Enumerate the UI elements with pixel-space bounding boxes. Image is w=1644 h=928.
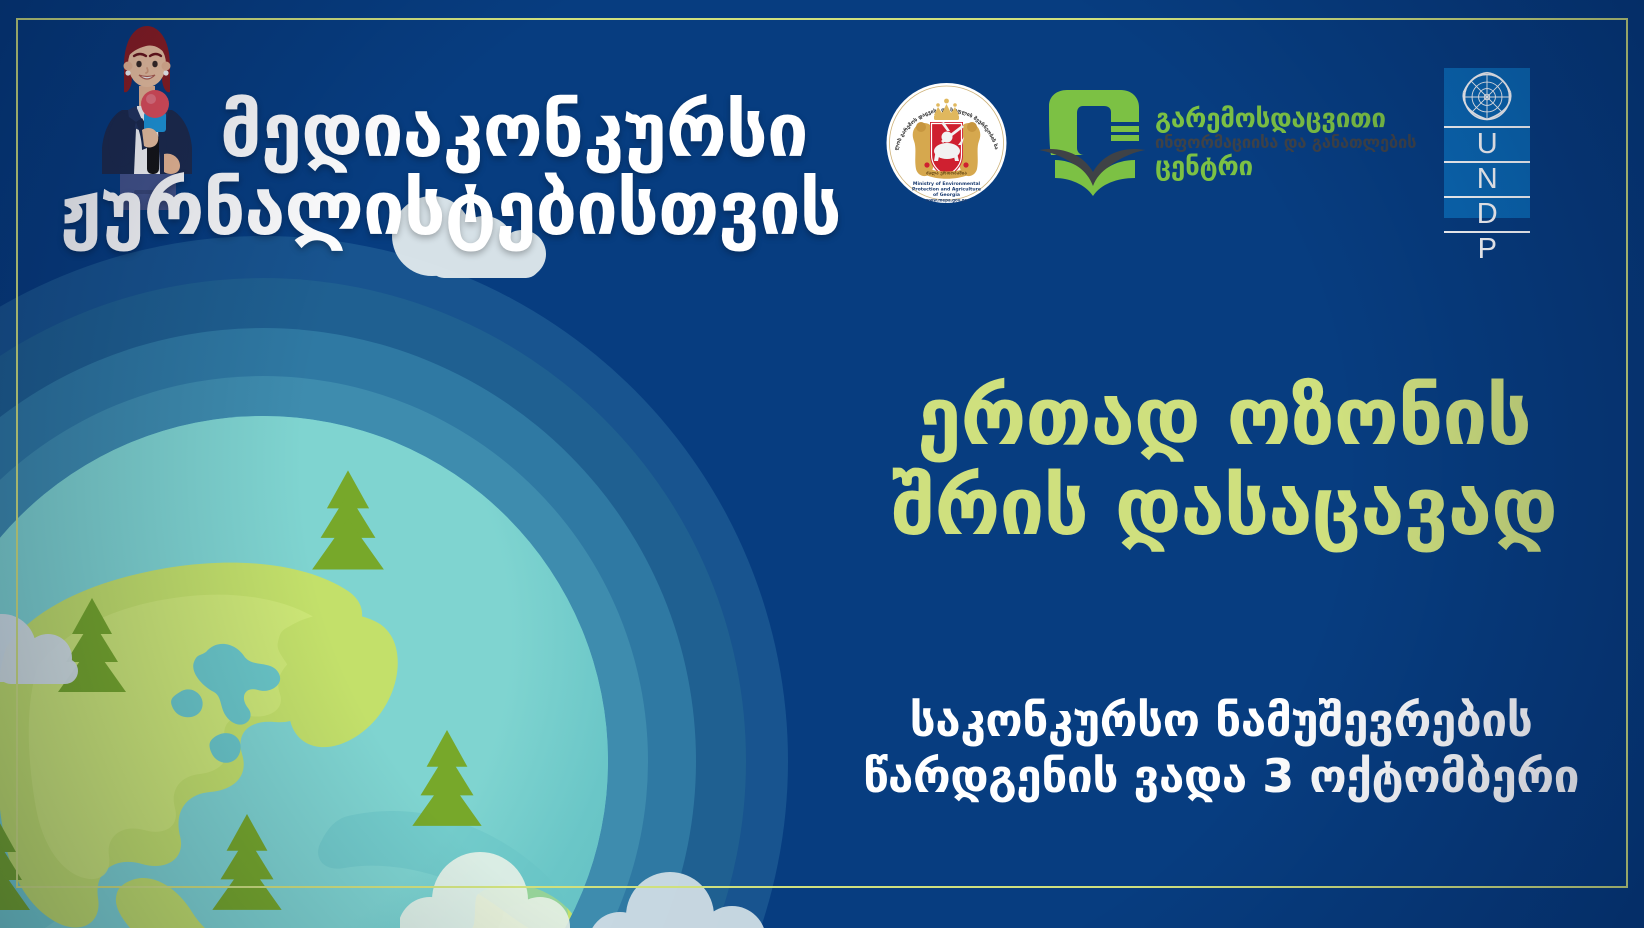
eiec-wordmark: გარემოსდაცვითი ინფორმაციისა და განათლები… [1155, 106, 1416, 180]
eiec-text-line-2: ინფორმაციისა და განათლების [1155, 135, 1416, 152]
eiec-text-line-1: გარემოსდაცვითი [1155, 106, 1416, 132]
undp-letter-d: D [1444, 196, 1530, 231]
ministry-caption-en-2: Protection and Agriculture [912, 187, 981, 193]
earth-globe [0, 236, 788, 928]
headline-line-1: ერთად ოზონის [864, 372, 1584, 462]
logo-row: საქართველოს გარემოს დაცვისა და სოფლის მე… [884, 58, 1530, 228]
deadline-line-1: საკონკურსო ნამუშევრების [856, 692, 1586, 748]
svg-text:ძალა ერთობაშია: ძალა ერთობაშია [926, 170, 967, 177]
cloud-icon [0, 610, 108, 686]
tree-icon [210, 812, 284, 914]
poster-title: მედიაკონკურსი ჟურნალისტებისთვის [60, 96, 820, 246]
un-emblem-icon [1444, 68, 1530, 126]
undp-letters: U N D P [1444, 126, 1530, 266]
tree-icon [310, 468, 386, 574]
ministry-caption-en-4: www.mepa.gov.ge [926, 198, 968, 203]
deadline-block: საკონკურსო ნამუშევრების წარდგენის ვადა 3… [856, 692, 1586, 804]
eiec-mark-icon [1037, 88, 1149, 198]
eiec-text-line-3: ცენტრი [1155, 154, 1416, 180]
poster-canvas: მედიაკონკურსი ჟურნალისტებისთვის ერთად ოზ… [0, 0, 1644, 928]
undp-letter-u: U [1444, 126, 1530, 161]
undp-logo: U N D P [1444, 68, 1530, 218]
undp-letter-n: N [1444, 161, 1530, 196]
deadline-line-2: წარდგენის ვადა 3 ოქტომბერი [856, 748, 1586, 804]
headline-line-2: შრის დასაცავად [864, 462, 1584, 552]
title-line-1: მედიაკონკურსი [220, 96, 820, 168]
ministry-emblem: საქართველოს გარემოს დაცვისა და სოფლის მე… [884, 79, 1009, 207]
eiec-logo: გარემოსდაცვითი ინფორმაციისა და განათლები… [1037, 88, 1416, 198]
title-line-2: ჟურნალისტებისთვის [60, 174, 820, 246]
undp-letter-p: P [1444, 231, 1530, 266]
ministry-caption-en-1: Ministry of Environmental [913, 181, 981, 187]
tree-icon [0, 814, 32, 914]
headline-block: ერთად ოზონის შრის დასაცავად [864, 372, 1584, 551]
cloud-icon [560, 868, 860, 928]
tree-icon [410, 728, 484, 830]
